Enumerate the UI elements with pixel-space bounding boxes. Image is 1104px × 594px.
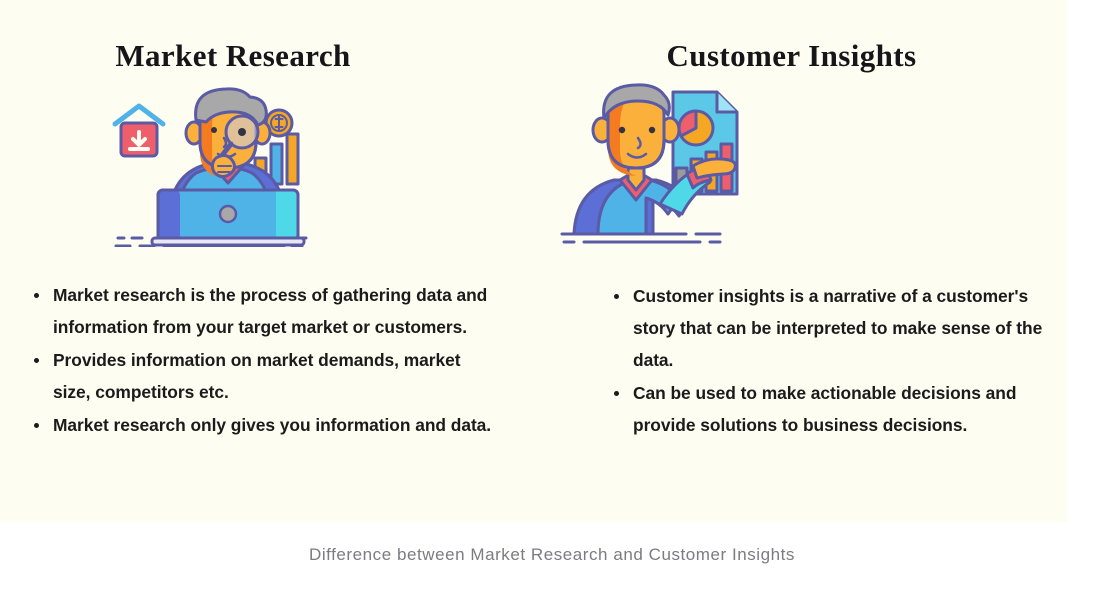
list-item: Customer insights is a narrative of a cu… — [610, 280, 1060, 376]
researcher-with-laptop-and-magnifier-icon — [108, 82, 308, 247]
list-item: Can be used to make actionable decisions… — [610, 377, 1060, 441]
bullet-list-customer-insights: Customer insights is a narrative of a cu… — [610, 280, 1060, 442]
analyst-presenting-report-icon — [560, 82, 755, 247]
list-item: Market research is the process of gather… — [30, 279, 500, 343]
column-customer-insights: Customer Insights — [560, 0, 1067, 522]
column-title-market-research: Market Research — [0, 38, 560, 74]
figure-caption: Difference between Market Research and C… — [0, 545, 1104, 565]
list-item: Provides information on market demands, … — [30, 344, 500, 408]
list-item: Market research only gives you informati… — [30, 409, 500, 441]
slide-canvas: Market Research — [0, 0, 1104, 594]
bullet-list-market-research: Market research is the process of gather… — [30, 279, 500, 442]
column-market-research: Market Research — [0, 0, 560, 522]
column-title-customer-insights: Customer Insights — [560, 38, 1067, 74]
